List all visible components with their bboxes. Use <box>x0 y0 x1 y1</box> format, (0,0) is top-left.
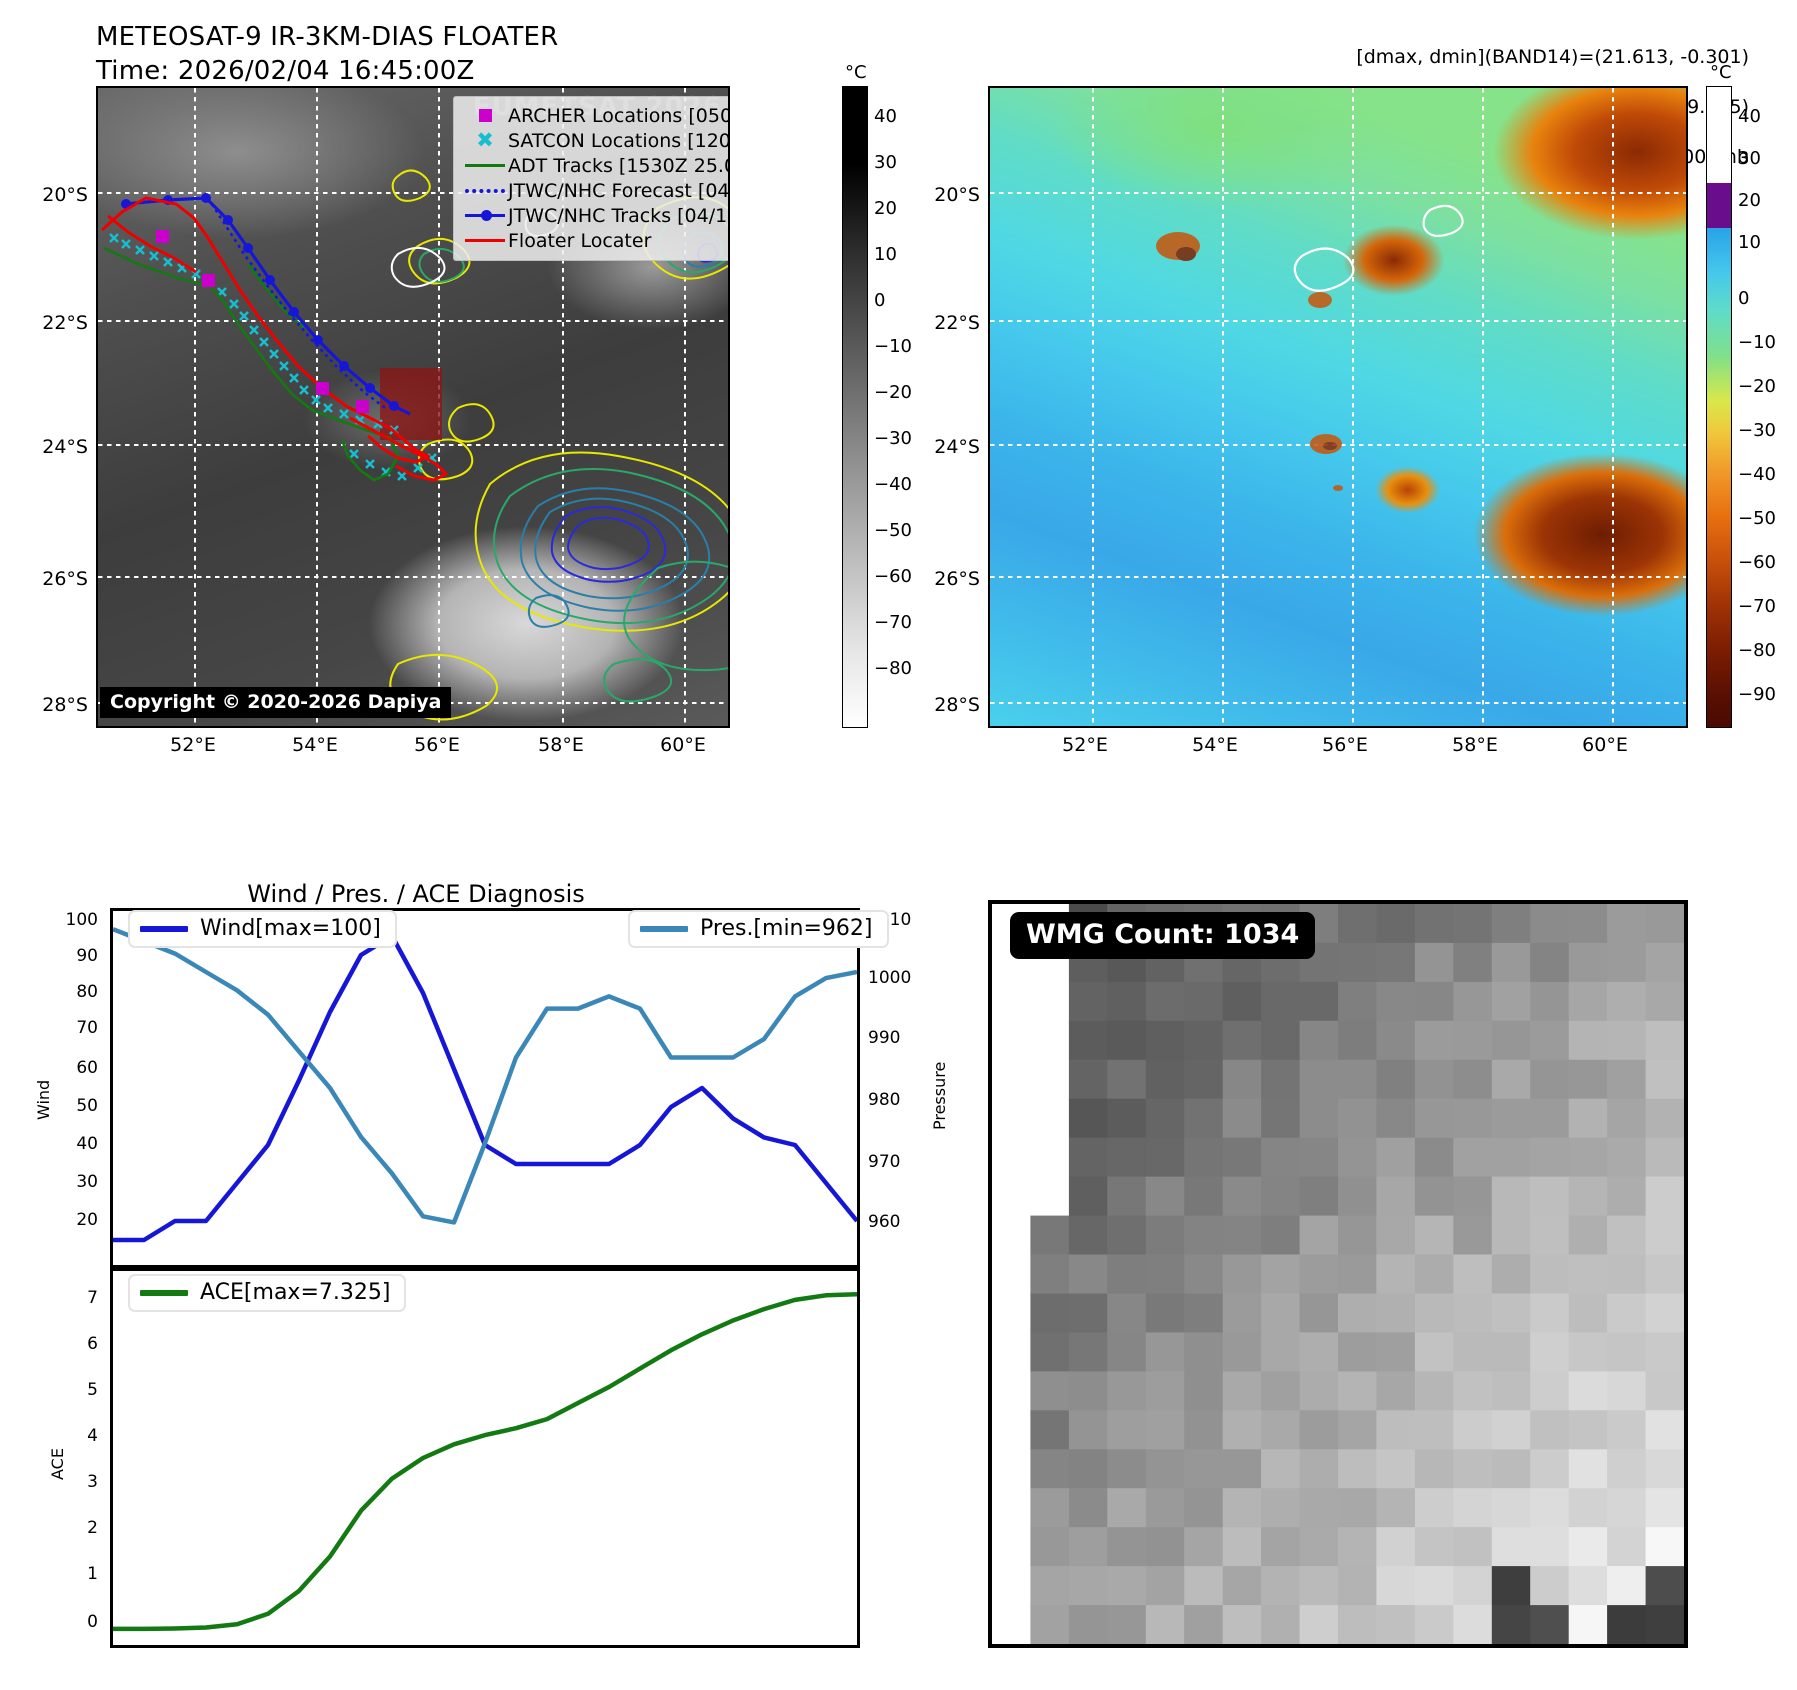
ace-legend[interactable]: ACE[max=7.325] <box>128 1274 406 1312</box>
wind-line-swatch-icon <box>140 926 188 932</box>
legend-label: JTWC/NHC Forecast [04/0600Z] <box>508 180 730 202</box>
wind-axis-label: Wind <box>34 1080 53 1120</box>
awv-colorbar-tick: 10 <box>1738 232 1761 253</box>
ir-lat-tick: 28°S <box>8 694 88 716</box>
ir-colorbar-unit: °C <box>845 62 867 83</box>
awv-colorbar-tick: −80 <box>1738 640 1776 661</box>
awv-lon-tick: 56°E <box>1300 734 1390 756</box>
ir-lon-tick: 54°E <box>270 734 360 756</box>
ace-legend-label: ACE[max=7.325] <box>200 1280 390 1305</box>
ir-colorbar-tick: 0 <box>874 290 885 311</box>
awv-colorbar-tick: −90 <box>1738 684 1776 705</box>
awv-colorbar-unit: °C <box>1710 62 1732 83</box>
legend-label: ARCHER Locations [0509Z] <box>508 105 730 127</box>
awv-colorbar-tick: 40 <box>1738 106 1761 127</box>
magenta-square-marker-icon <box>462 109 508 122</box>
ir-colorbar-tick: −40 <box>874 474 912 495</box>
ir-colorbar-tick: 30 <box>874 152 897 173</box>
awv-lat-tick: 26°S <box>900 568 980 590</box>
awv-colorbar-tick: −40 <box>1738 464 1776 485</box>
ace-tick: 1 <box>52 1564 98 1584</box>
ir-title-line2: Time: 2026/02/04 16:45:00Z <box>96 56 475 86</box>
awv-colorbar-tick: −20 <box>1738 376 1776 397</box>
blue-dotted-line-icon <box>462 189 508 193</box>
ir-satellite-image[interactable]: EUMETSAT 2026 <box>96 86 730 728</box>
wind-tick: 50 <box>52 1096 98 1116</box>
ir-colorbar-tick: 40 <box>874 106 897 127</box>
legend-label: JTWC/NHC Tracks [04/1200Z] <box>508 205 730 227</box>
ir-colorbar-tick: −80 <box>874 658 912 679</box>
pressure-legend[interactable]: Pres.[min=962] <box>628 910 889 948</box>
ir-map-legend: ARCHER Locations [0509Z] ✖SATCON Locatio… <box>453 96 730 261</box>
ir-lon-tick: 60°E <box>638 734 728 756</box>
awv-colorbar-tick: −10 <box>1738 332 1776 353</box>
copyright-notice: Copyright © 2020-2026 Dapiya <box>100 687 451 718</box>
ace-tick: 6 <box>52 1334 98 1354</box>
ir-colorbar-tick: 10 <box>874 244 897 265</box>
awv-colorbar-tick: 30 <box>1738 148 1761 169</box>
legend-label: Floater Locater <box>508 230 651 252</box>
pressure-tick: 1000 <box>868 968 928 988</box>
wind-tick: 20 <box>52 1210 98 1230</box>
ir-colorbar-tick: −20 <box>874 382 912 403</box>
ir-colorbar <box>842 86 868 728</box>
awv-lon-tick: 52°E <box>1040 734 1130 756</box>
pressure-line-swatch-icon <box>640 926 688 932</box>
awv-lat-tick: 22°S <box>900 312 980 334</box>
pressure-tick: 980 <box>868 1090 928 1110</box>
ir-lon-tick: 52°E <box>148 734 238 756</box>
awv-lon-tick: 54°E <box>1170 734 1260 756</box>
wind-tick: 30 <box>52 1172 98 1192</box>
pressure-legend-label: Pres.[min=962] <box>700 916 873 941</box>
wind-tick: 70 <box>52 1018 98 1038</box>
legend-item-jtwc-tracks[interactable]: JTWC/NHC Tracks [04/1200Z] <box>462 203 730 228</box>
red-line-icon <box>462 239 508 242</box>
ir-colorbar-tick: −10 <box>874 336 912 357</box>
wind-legend[interactable]: Wind[max=100] <box>128 910 397 948</box>
pressure-tick: 960 <box>868 1212 928 1232</box>
wmg-count-badge: WMG Count: 1034 <box>1010 912 1315 959</box>
ir-title-line1: METEOSAT-9 IR-3KM-DIAS FLOATER <box>96 22 558 52</box>
awv-lat-tick: 28°S <box>900 694 980 716</box>
cyan-x-marker-icon: ✖ <box>462 130 508 151</box>
ir-lat-tick: 22°S <box>8 312 88 334</box>
wind-pressure-chart[interactable] <box>110 908 860 1268</box>
pressure-tick: 970 <box>868 1152 928 1172</box>
awv-colorbar-tick: 20 <box>1738 190 1761 211</box>
green-line-icon <box>462 164 508 167</box>
wmg-grayscale-grid[interactable] <box>988 900 1688 1648</box>
awv-colorbar-tick: 0 <box>1738 288 1749 309</box>
awv-lat-tick: 20°S <box>900 184 980 206</box>
ace-tick: 5 <box>52 1380 98 1400</box>
ir-lat-tick: 20°S <box>8 184 88 206</box>
awv-colorbar-tick: −70 <box>1738 596 1776 617</box>
ace-tick: 2 <box>52 1518 98 1538</box>
ir-colorbar-tick: −70 <box>874 612 912 633</box>
ir-panel-title: METEOSAT-9 IR-3KM-DIAS FLOATERTime: 2026… <box>96 20 558 88</box>
ace-chart[interactable] <box>110 1268 860 1648</box>
legend-item-archer[interactable]: ARCHER Locations [0509Z] <box>462 103 730 128</box>
ace-line-swatch-icon <box>140 1290 188 1296</box>
diagnosis-title: Wind / Pres. / ACE Diagnosis <box>96 880 736 908</box>
wind-tick: 40 <box>52 1134 98 1154</box>
awv-lon-tick: 60°E <box>1560 734 1650 756</box>
ir-colorbar-tick: −50 <box>874 520 912 541</box>
wind-tick: 90 <box>52 946 98 966</box>
wind-tick: 60 <box>52 1058 98 1078</box>
wind-tick: 80 <box>52 982 98 1002</box>
legend-label: SATCON Locations [1200Z 35 1001] <box>508 130 730 152</box>
awv-colorbar <box>1706 86 1732 728</box>
legend-label: ADT Tracks [1530Z 25.0 1005.4] <box>508 155 730 177</box>
pressure-tick: 990 <box>868 1028 928 1048</box>
awv-band14-range: [dmax, dmin](BAND14)=(21.613, -0.301) <box>1356 45 1749 70</box>
ace-tick: 7 <box>52 1288 98 1308</box>
ir-colorbar-tick: 20 <box>874 198 897 219</box>
pressure-axis-label: Pressure <box>930 1062 949 1130</box>
awv-colorbar-tick: −50 <box>1738 508 1776 529</box>
ir-lon-tick: 56°E <box>392 734 482 756</box>
legend-item-floater-locater[interactable]: Floater Locater <box>462 228 730 253</box>
ace-tick: 4 <box>52 1426 98 1446</box>
awv-colorbar-tick: −60 <box>1738 552 1776 573</box>
legend-item-jtwc-forecast[interactable]: JTWC/NHC Forecast [04/0600Z] <box>462 178 730 203</box>
awv-overlay-vectors <box>990 88 1686 726</box>
wind-legend-label: Wind[max=100] <box>200 916 381 941</box>
legend-item-adt[interactable]: ADT Tracks [1530Z 25.0 1005.4] <box>462 153 730 178</box>
ir-lat-tick: 24°S <box>8 436 88 458</box>
ir-lat-tick: 26°S <box>8 568 88 590</box>
blue-line-dot-icon <box>462 214 508 217</box>
ace-tick: 0 <box>52 1612 98 1632</box>
awv-colorbar-tick: −30 <box>1738 420 1776 441</box>
awv-lon-tick: 58°E <box>1430 734 1520 756</box>
awv-lat-tick: 24°S <box>900 436 980 458</box>
wind-tick: 100 <box>52 910 98 930</box>
legend-item-satcon[interactable]: ✖SATCON Locations [1200Z 35 1001] <box>462 128 730 153</box>
awv-satellite-image[interactable] <box>988 86 1688 728</box>
ace-tick: 3 <box>52 1472 98 1492</box>
ir-lon-tick: 58°E <box>516 734 606 756</box>
